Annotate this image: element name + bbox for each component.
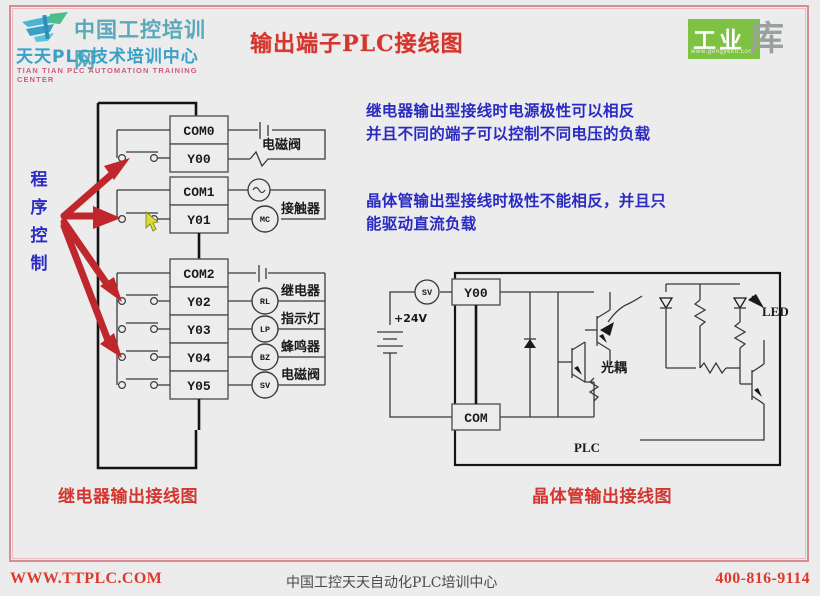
load-label-y00: 电磁阀	[262, 137, 301, 152]
terminal-block-group-1: COM0 Y00 COM1 Y01	[170, 116, 228, 233]
load-label-y05: 电磁阀	[281, 367, 320, 382]
switch-contact-y01[interactable]	[117, 190, 170, 222]
terminal-com2-label: COM2	[183, 267, 214, 282]
load-label-y01: 接触器	[281, 201, 321, 216]
load-label-y04: 蜂鸣器	[281, 339, 321, 354]
supply-voltage-label: +24V	[394, 312, 428, 325]
load-code-y01: MC	[260, 215, 270, 225]
right-load-code: SV	[422, 288, 433, 298]
terminal-com1-label: COM1	[183, 185, 214, 200]
switch-contact-y03[interactable]	[119, 323, 170, 332]
optocoupler-label: 光耦	[600, 360, 627, 375]
terminal-com0-label: COM0	[183, 124, 214, 139]
terminal-y02-label: Y02	[187, 295, 211, 310]
arrow-to-y02	[64, 222, 122, 302]
load-circuit-y01: MC 接触器	[228, 179, 325, 232]
transistor-terminal-com-label: COM	[464, 411, 488, 426]
transistor-terminal-com[interactable]: COM	[452, 404, 500, 430]
terminal-block-group-2: COM2 Y02 Y03 Y04 Y05	[170, 259, 228, 399]
transistor-terminal-y00-label: Y00	[464, 286, 488, 301]
terminal-y04-label: Y04	[187, 351, 211, 366]
load-label-y03: 指示灯	[281, 311, 320, 326]
transistor-terminal-y00[interactable]: Y00	[452, 279, 500, 305]
terminal-y01-label: Y01	[187, 213, 211, 228]
load-label-y02: 继电器	[281, 283, 321, 298]
switch-contact-y05[interactable]	[119, 379, 170, 388]
switch-contact-y00[interactable]	[117, 130, 170, 161]
terminal-y05-label: Y05	[187, 379, 211, 394]
load-code-y04: BZ	[260, 353, 270, 363]
terminal-y03-label: Y03	[187, 323, 211, 338]
load-code-y02: RL	[260, 297, 270, 307]
diagram-canvas: COM0 Y00 COM1 Y01 COM2 Y02 Y03 Y04 Y05	[0, 0, 820, 596]
switch-contact-y04[interactable]	[119, 351, 170, 360]
switch-contact-y02[interactable]	[117, 295, 170, 304]
load-circuit-group2: RL 继电器 LP 指示灯 BZ 蜂鸣器 SV 电磁阀	[228, 265, 325, 398]
led-label: LED	[762, 304, 789, 319]
mouse-cursor	[146, 212, 158, 231]
transistor-internal-circuit: 光耦 L	[500, 284, 789, 440]
slide-frame: 中国工控培训网 天天PLC技术培训中心 TIAN TIAN PLC AUTOMA…	[0, 0, 820, 596]
load-code-y05: SV	[260, 381, 271, 391]
load-circuit-y00: 电磁阀	[228, 122, 325, 166]
load-code-y03: LP	[260, 325, 270, 335]
plc-box-label: PLC	[574, 440, 600, 455]
terminal-y00-label: Y00	[187, 152, 211, 167]
transistor-external-circuit: SV +24V	[377, 280, 452, 417]
